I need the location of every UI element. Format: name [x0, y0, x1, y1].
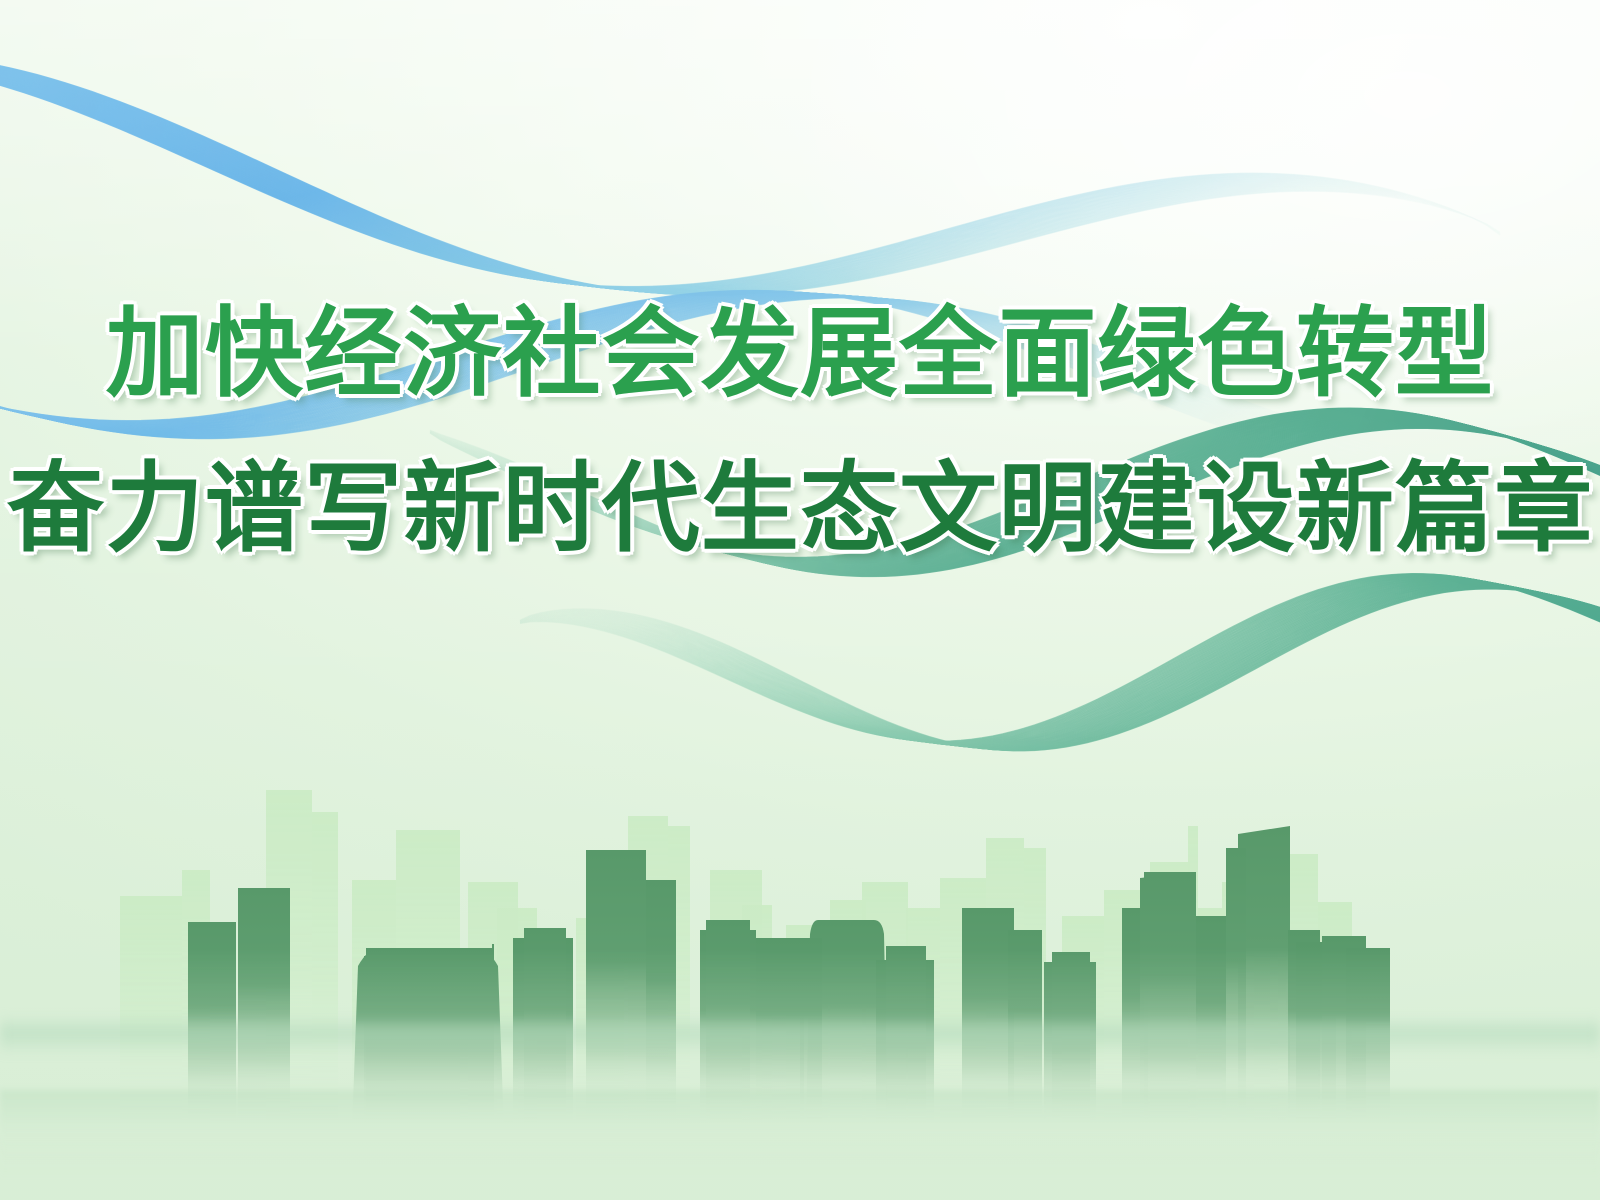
city-skyline-silhouette — [0, 730, 1600, 1130]
skyline-svg — [0, 730, 1600, 1130]
headline-line-1: 加快经济社会发展全面绿色转型 — [0, 290, 1600, 419]
headline-block: 加快经济社会发展全面绿色转型 奋力谱写新时代生态文明建设新篇章 — [0, 290, 1600, 575]
headline-line-2: 奋力谱写新时代生态文明建设新篇章 — [0, 445, 1600, 574]
poster-canvas: 加快经济社会发展全面绿色转型 奋力谱写新时代生态文明建设新篇章 — [0, 0, 1600, 1200]
skyline-reflection — [0, 1090, 1600, 1180]
ground-sheen — [0, 1015, 1600, 1055]
skyline-front-layer — [188, 826, 1390, 1130]
